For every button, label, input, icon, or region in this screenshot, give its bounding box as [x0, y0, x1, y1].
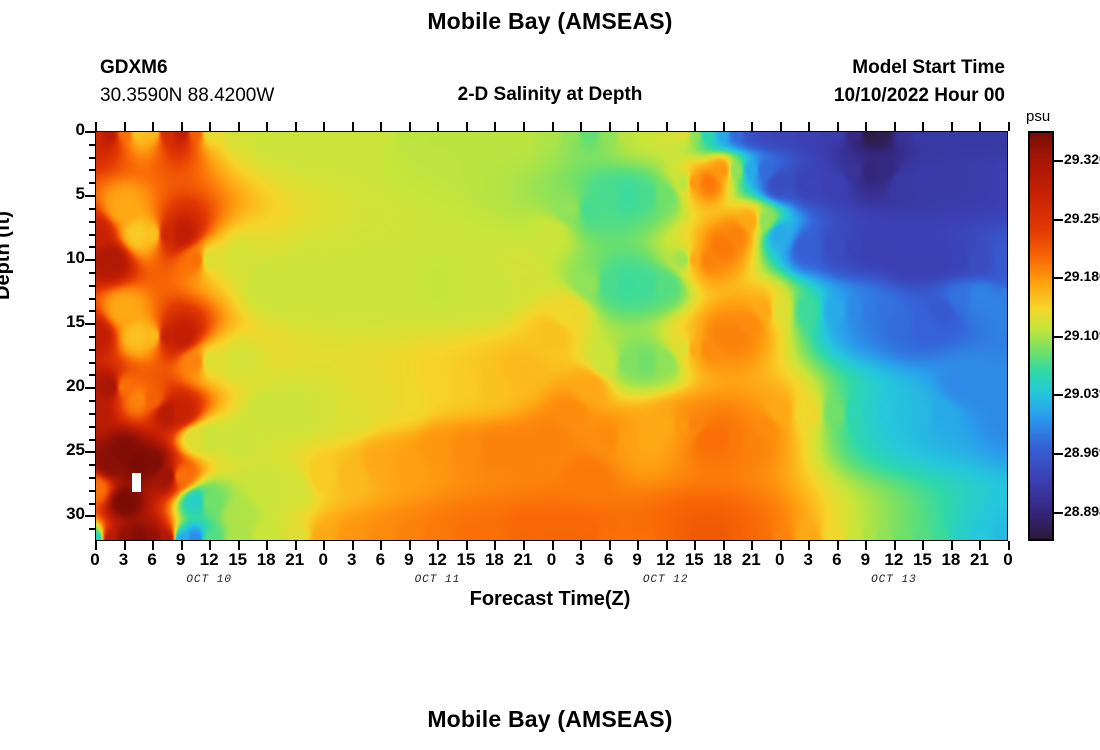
- colorbar-tick-label: 29.250: [1064, 210, 1100, 226]
- x-axis-tick: [266, 541, 268, 550]
- y-axis-tick-label: 5: [27, 184, 85, 204]
- x-axis-tick: [637, 541, 639, 550]
- y-axis-tick-label: 30: [27, 504, 85, 524]
- y-axis-tick-label: 15: [27, 312, 85, 332]
- x-axis-tick: [865, 541, 867, 550]
- y-axis-tick-label: 10: [27, 248, 85, 268]
- colorbar-tick-label: 29.109: [1064, 327, 1100, 343]
- colorbar-tick: [1054, 336, 1063, 338]
- x-axis-tick: [723, 122, 725, 131]
- y-axis-tick: [85, 195, 95, 197]
- x-axis-tick: [152, 541, 154, 550]
- x-axis-tick: [181, 122, 183, 131]
- x-axis-tick: [694, 541, 696, 550]
- x-axis-tick: [637, 122, 639, 131]
- x-axis-tick: [580, 122, 582, 131]
- y-axis-tick-label: 25: [27, 440, 85, 460]
- y-axis-minor-tick: [89, 285, 95, 287]
- x-axis-tick: [152, 122, 154, 131]
- x-axis-tick: [494, 122, 496, 131]
- x-axis-tick: [209, 122, 211, 131]
- colorbar-tick: [1054, 453, 1063, 455]
- x-axis-tick: [323, 122, 325, 131]
- y-axis-minor-tick: [89, 464, 95, 466]
- x-axis-tick: [865, 122, 867, 131]
- x-axis-tick: [609, 541, 611, 550]
- x-axis-tick: [979, 122, 981, 131]
- x-axis-tick: [466, 541, 468, 550]
- x-axis-tick: [1008, 541, 1010, 550]
- y-axis-minor-tick: [89, 336, 95, 338]
- x-axis-tick: [124, 122, 126, 131]
- colorbar-tick: [1054, 512, 1063, 514]
- x-axis-tick: [580, 541, 582, 550]
- bottom-caption: Mobile Bay (AMSEAS): [0, 706, 1100, 733]
- x-axis-tick: [95, 122, 97, 131]
- y-axis-tick: [85, 323, 95, 325]
- x-axis-tick: [466, 122, 468, 131]
- x-axis-tick: [295, 541, 297, 550]
- x-axis-tick: [437, 122, 439, 131]
- x-axis-tick: [837, 122, 839, 131]
- x-axis-tick: [751, 122, 753, 131]
- y-axis-minor-tick: [89, 490, 95, 492]
- y-axis-minor-tick: [89, 374, 95, 376]
- x-axis-day-label: OCT 11: [377, 574, 497, 586]
- x-axis-tick: [352, 541, 354, 550]
- y-axis-minor-tick: [89, 310, 95, 312]
- colorbar-gradient: [1030, 133, 1052, 539]
- y-axis-minor-tick: [89, 234, 95, 236]
- y-axis-minor-tick: [89, 144, 95, 146]
- colorbar: [1028, 131, 1054, 541]
- x-axis-tick: [380, 122, 382, 131]
- x-axis-tick: [780, 541, 782, 550]
- x-axis-tick: [694, 122, 696, 131]
- model-start-time-label: Model Start Time: [700, 57, 1005, 79]
- y-axis-tick: [85, 131, 95, 133]
- y-axis-tick-label: 0: [27, 120, 85, 140]
- x-axis-tick: [894, 541, 896, 550]
- x-axis-tick: [894, 122, 896, 131]
- colorbar-tick-label: 29.039: [1064, 385, 1100, 401]
- x-axis-tick: [666, 122, 668, 131]
- x-axis-tick: [295, 122, 297, 131]
- colorbar-tick: [1054, 277, 1063, 279]
- y-axis-minor-tick: [89, 272, 95, 274]
- y-axis-minor-tick: [89, 246, 95, 248]
- x-axis-tick: [837, 541, 839, 550]
- x-axis-tick: [951, 122, 953, 131]
- colorbar-tick: [1054, 219, 1063, 221]
- x-axis-tick: [808, 541, 810, 550]
- colorbar-unit-label: psu: [1026, 108, 1050, 125]
- y-axis-minor-tick: [89, 400, 95, 402]
- x-axis-tick: [266, 122, 268, 131]
- colorbar-tick-label: 29.320: [1064, 151, 1100, 167]
- x-axis-tick: [95, 541, 97, 550]
- x-axis-day-label: OCT 13: [834, 574, 954, 586]
- colorbar-tick: [1054, 160, 1063, 162]
- x-axis-tick: [352, 122, 354, 131]
- x-axis-tick: [922, 122, 924, 131]
- x-axis-tick: [409, 122, 411, 131]
- y-axis-tick: [85, 259, 95, 261]
- missing-data-cell: [132, 473, 141, 492]
- x-axis-tick: [552, 122, 554, 131]
- y-axis-minor-tick: [89, 221, 95, 223]
- y-axis-minor-tick: [89, 208, 95, 210]
- station-id-label: GDXM6: [100, 57, 168, 79]
- y-axis-minor-tick: [89, 169, 95, 171]
- y-axis-minor-tick: [89, 362, 95, 364]
- y-axis-minor-tick: [89, 426, 95, 428]
- x-axis-tick: [922, 541, 924, 550]
- y-axis-minor-tick: [89, 477, 95, 479]
- y-axis-minor-tick: [89, 413, 95, 415]
- y-axis-minor-tick: [89, 349, 95, 351]
- x-axis-tick: [751, 541, 753, 550]
- x-axis-tick: [523, 122, 525, 131]
- heatmap-canvas: [96, 132, 1007, 540]
- y-axis-minor-tick: [89, 528, 95, 530]
- y-axis-minor-tick: [89, 439, 95, 441]
- colorbar-tick-label: 29.180: [1064, 268, 1100, 284]
- colorbar-tick-label: 28.969: [1064, 444, 1100, 460]
- page-title: Mobile Bay (AMSEAS): [0, 8, 1100, 35]
- x-axis-tick: [609, 122, 611, 131]
- x-axis-tick: [723, 541, 725, 550]
- y-axis-minor-tick: [89, 503, 95, 505]
- x-axis-tick: [979, 541, 981, 550]
- x-axis-tick-label: 0: [988, 550, 1028, 570]
- y-axis-tick-label: 20: [27, 376, 85, 396]
- x-axis-tick: [181, 541, 183, 550]
- y-axis-minor-tick: [89, 182, 95, 184]
- x-axis-tick: [238, 541, 240, 550]
- y-axis-tick: [85, 387, 95, 389]
- y-axis-tick: [85, 451, 95, 453]
- x-axis-tick: [523, 541, 525, 550]
- colorbar-tick: [1054, 394, 1063, 396]
- y-axis-title: Depth (ft): [0, 211, 15, 300]
- x-axis-title: Forecast Time(Z): [0, 588, 1100, 611]
- x-axis-day-label: OCT 12: [606, 574, 726, 586]
- x-axis-day-label: OCT 10: [149, 574, 269, 586]
- y-axis-minor-tick: [89, 298, 95, 300]
- x-axis-tick: [780, 122, 782, 131]
- x-axis-tick: [1008, 122, 1010, 131]
- x-axis-tick: [808, 122, 810, 131]
- x-axis-tick: [437, 541, 439, 550]
- x-axis-tick: [323, 541, 325, 550]
- y-axis-tick: [85, 515, 95, 517]
- x-axis-tick: [552, 541, 554, 550]
- salinity-heatmap-plot: [95, 131, 1008, 541]
- y-axis-minor-tick: [89, 157, 95, 159]
- x-axis-tick: [380, 541, 382, 550]
- x-axis-tick: [494, 541, 496, 550]
- x-axis-tick: [951, 541, 953, 550]
- colorbar-tick-label: 28.898: [1064, 503, 1100, 519]
- x-axis-tick: [209, 541, 211, 550]
- model-start-time-value: 10/10/2022 Hour 00: [700, 85, 1005, 107]
- x-axis-tick: [409, 541, 411, 550]
- x-axis-tick: [124, 541, 126, 550]
- x-axis-tick: [666, 541, 668, 550]
- x-axis-tick: [238, 122, 240, 131]
